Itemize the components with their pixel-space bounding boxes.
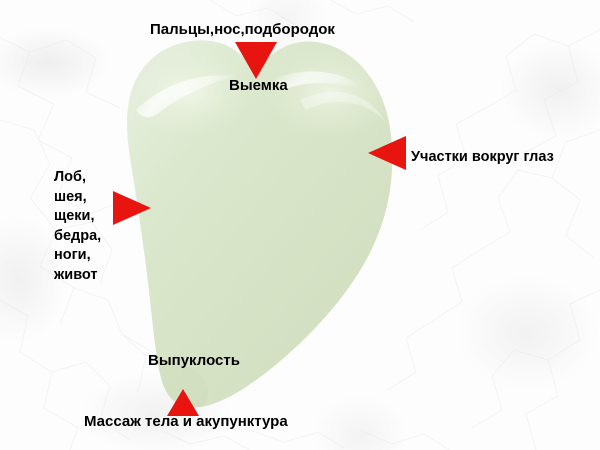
- label-body-parts-line-6: живот: [54, 266, 101, 286]
- label-body-parts-line-3: щеки,: [54, 207, 101, 227]
- triangle-left-icon: [368, 136, 406, 170]
- label-body-massage-acupuncture: Массаж тела и акупунктура: [84, 414, 288, 429]
- label-bulge: Выпуклость: [148, 353, 240, 368]
- label-body-parts-line-4: бедра,: [54, 227, 101, 247]
- label-body-parts-line-1: Лоб,: [54, 168, 101, 188]
- label-body-parts-list: Лоб, шея, щеки, бедра, ноги, живот: [54, 168, 101, 286]
- triangle-right-icon: [113, 191, 151, 225]
- label-body-parts-line-2: шея,: [54, 188, 101, 208]
- triangle-up-icon: [167, 389, 199, 416]
- triangle-down-icon: [235, 42, 277, 79]
- label-fingers-nose-chin: Пальцы,нос,подбородок: [150, 22, 335, 37]
- label-eye-areas: Участки вокруг глаз: [411, 150, 554, 165]
- label-body-parts-line-5: ноги,: [54, 246, 101, 266]
- gua-sha-diagram: Пальцы,нос,подбородок Выемка Участки вок…: [0, 0, 600, 450]
- label-notch: Выемка: [229, 78, 288, 93]
